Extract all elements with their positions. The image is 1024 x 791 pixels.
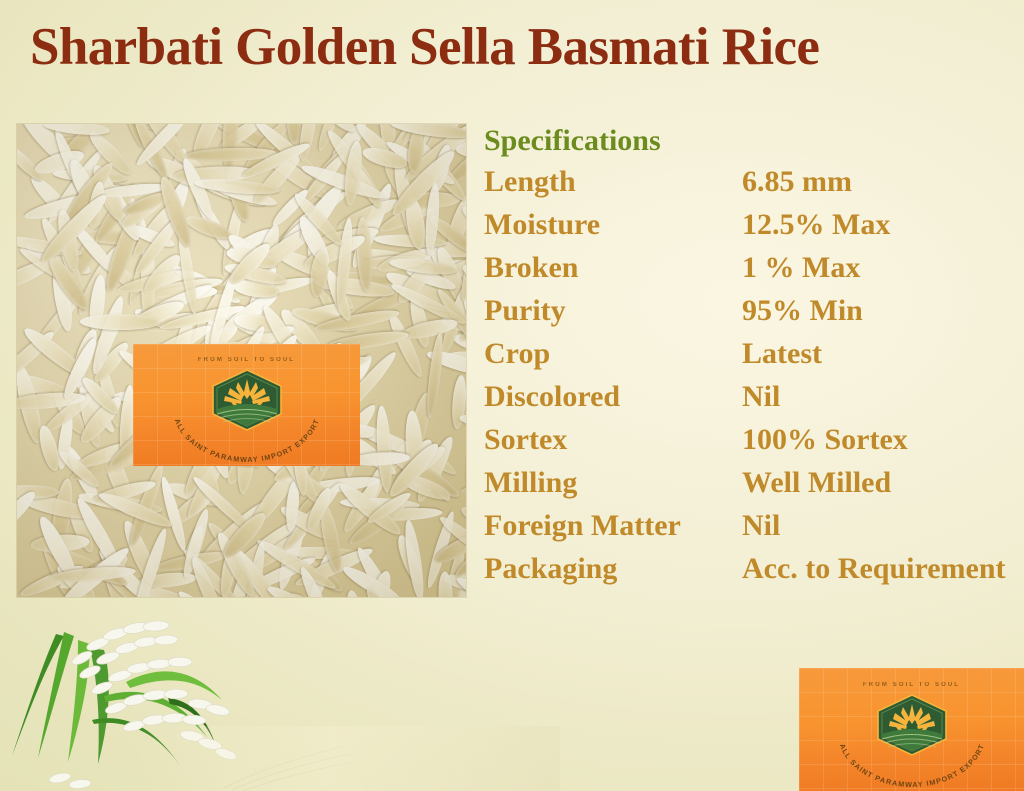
spec-row-crop: Crop Latest [484, 339, 1024, 369]
spec-row-milling: Milling Well Milled [484, 468, 1024, 498]
arc-text-path: ALL SAINT PARAMWAY IMPORT EXPORT [822, 727, 1002, 789]
logo-tagline: FROM SOIL TO SOUL [133, 357, 360, 363]
logo-company-arc-text: ALL SAINT PARAMWAY IMPORT EXPORT [133, 402, 360, 464]
spec-value: Nil [742, 511, 780, 541]
spec-value: Nil [742, 382, 780, 412]
spec-label: Purity [484, 296, 742, 326]
spec-label: Discolored [484, 382, 742, 412]
spec-value: 95% Min [742, 296, 863, 326]
spec-value: 12.5% Max [742, 210, 890, 240]
arc-text-content: ALL SAINT PARAMWAY IMPORT EXPORT [837, 742, 985, 789]
brand-logo-card-overlay: FROM SOIL TO SOUL [133, 344, 360, 466]
spec-label: Milling [484, 468, 742, 498]
spec-row-sortex: Sortex 100% Sortex [484, 425, 1024, 455]
spec-value: 6.85 mm [742, 167, 852, 197]
spec-label: Crop [484, 339, 742, 369]
spec-label: Length [484, 167, 742, 197]
logo-tagline: FROM SOIL TO SOUL [799, 682, 1024, 688]
arc-text-content: ALL SAINT PARAMWAY IMPORT EXPORT [172, 417, 320, 464]
rice-grain-photo: FROM SOIL TO SOUL [17, 124, 466, 597]
svg-text:ALL SAINT PARAMWAY IMPORT EXPO: ALL SAINT PARAMWAY IMPORT EXPORT [172, 417, 320, 464]
spec-row-foreign-matter: Foreign Matter Nil [484, 511, 1024, 541]
spec-value: Acc. to Requirement [742, 554, 1006, 584]
specifications-heading: Specifications [484, 126, 1024, 156]
spec-label: Broken [484, 253, 742, 283]
spec-label: Moisture [484, 210, 742, 240]
spec-value: Well Milled [742, 468, 891, 498]
arc-text-path: ALL SAINT PARAMWAY IMPORT EXPORT [157, 402, 337, 464]
spec-value: Latest [742, 339, 822, 369]
spec-value: 100% Sortex [742, 425, 908, 455]
rice-plant-illustration [0, 596, 354, 791]
spec-row-packaging: Packaging Acc. to Requirement [484, 554, 1024, 584]
slide-canvas: Sharbati Golden Sella Basmati Rice FROM … [0, 0, 1024, 791]
spec-value: 1 % Max [742, 253, 860, 283]
svg-text:ALL SAINT PARAMWAY IMPORT EXPO: ALL SAINT PARAMWAY IMPORT EXPORT [837, 742, 985, 789]
logo-company-arc-text: ALL SAINT PARAMWAY IMPORT EXPORT [799, 727, 1024, 789]
spec-row-broken: Broken 1 % Max [484, 253, 1024, 283]
brand-logo-card-corner: FROM SOIL TO SOUL [799, 668, 1024, 791]
spec-row-discolored: Discolored Nil [484, 382, 1024, 412]
spec-label: Foreign Matter [484, 511, 742, 541]
page-title: Sharbati Golden Sella Basmati Rice [30, 17, 819, 77]
spec-label: Packaging [484, 554, 742, 584]
spec-row-moisture: Moisture 12.5% Max [484, 210, 1024, 240]
spec-row-purity: Purity 95% Min [484, 296, 1024, 326]
spec-row-length: Length 6.85 mm [484, 167, 1024, 197]
specifications-panel: Specifications Length 6.85 mm Moisture 1… [484, 126, 1024, 597]
spec-label: Sortex [484, 425, 742, 455]
